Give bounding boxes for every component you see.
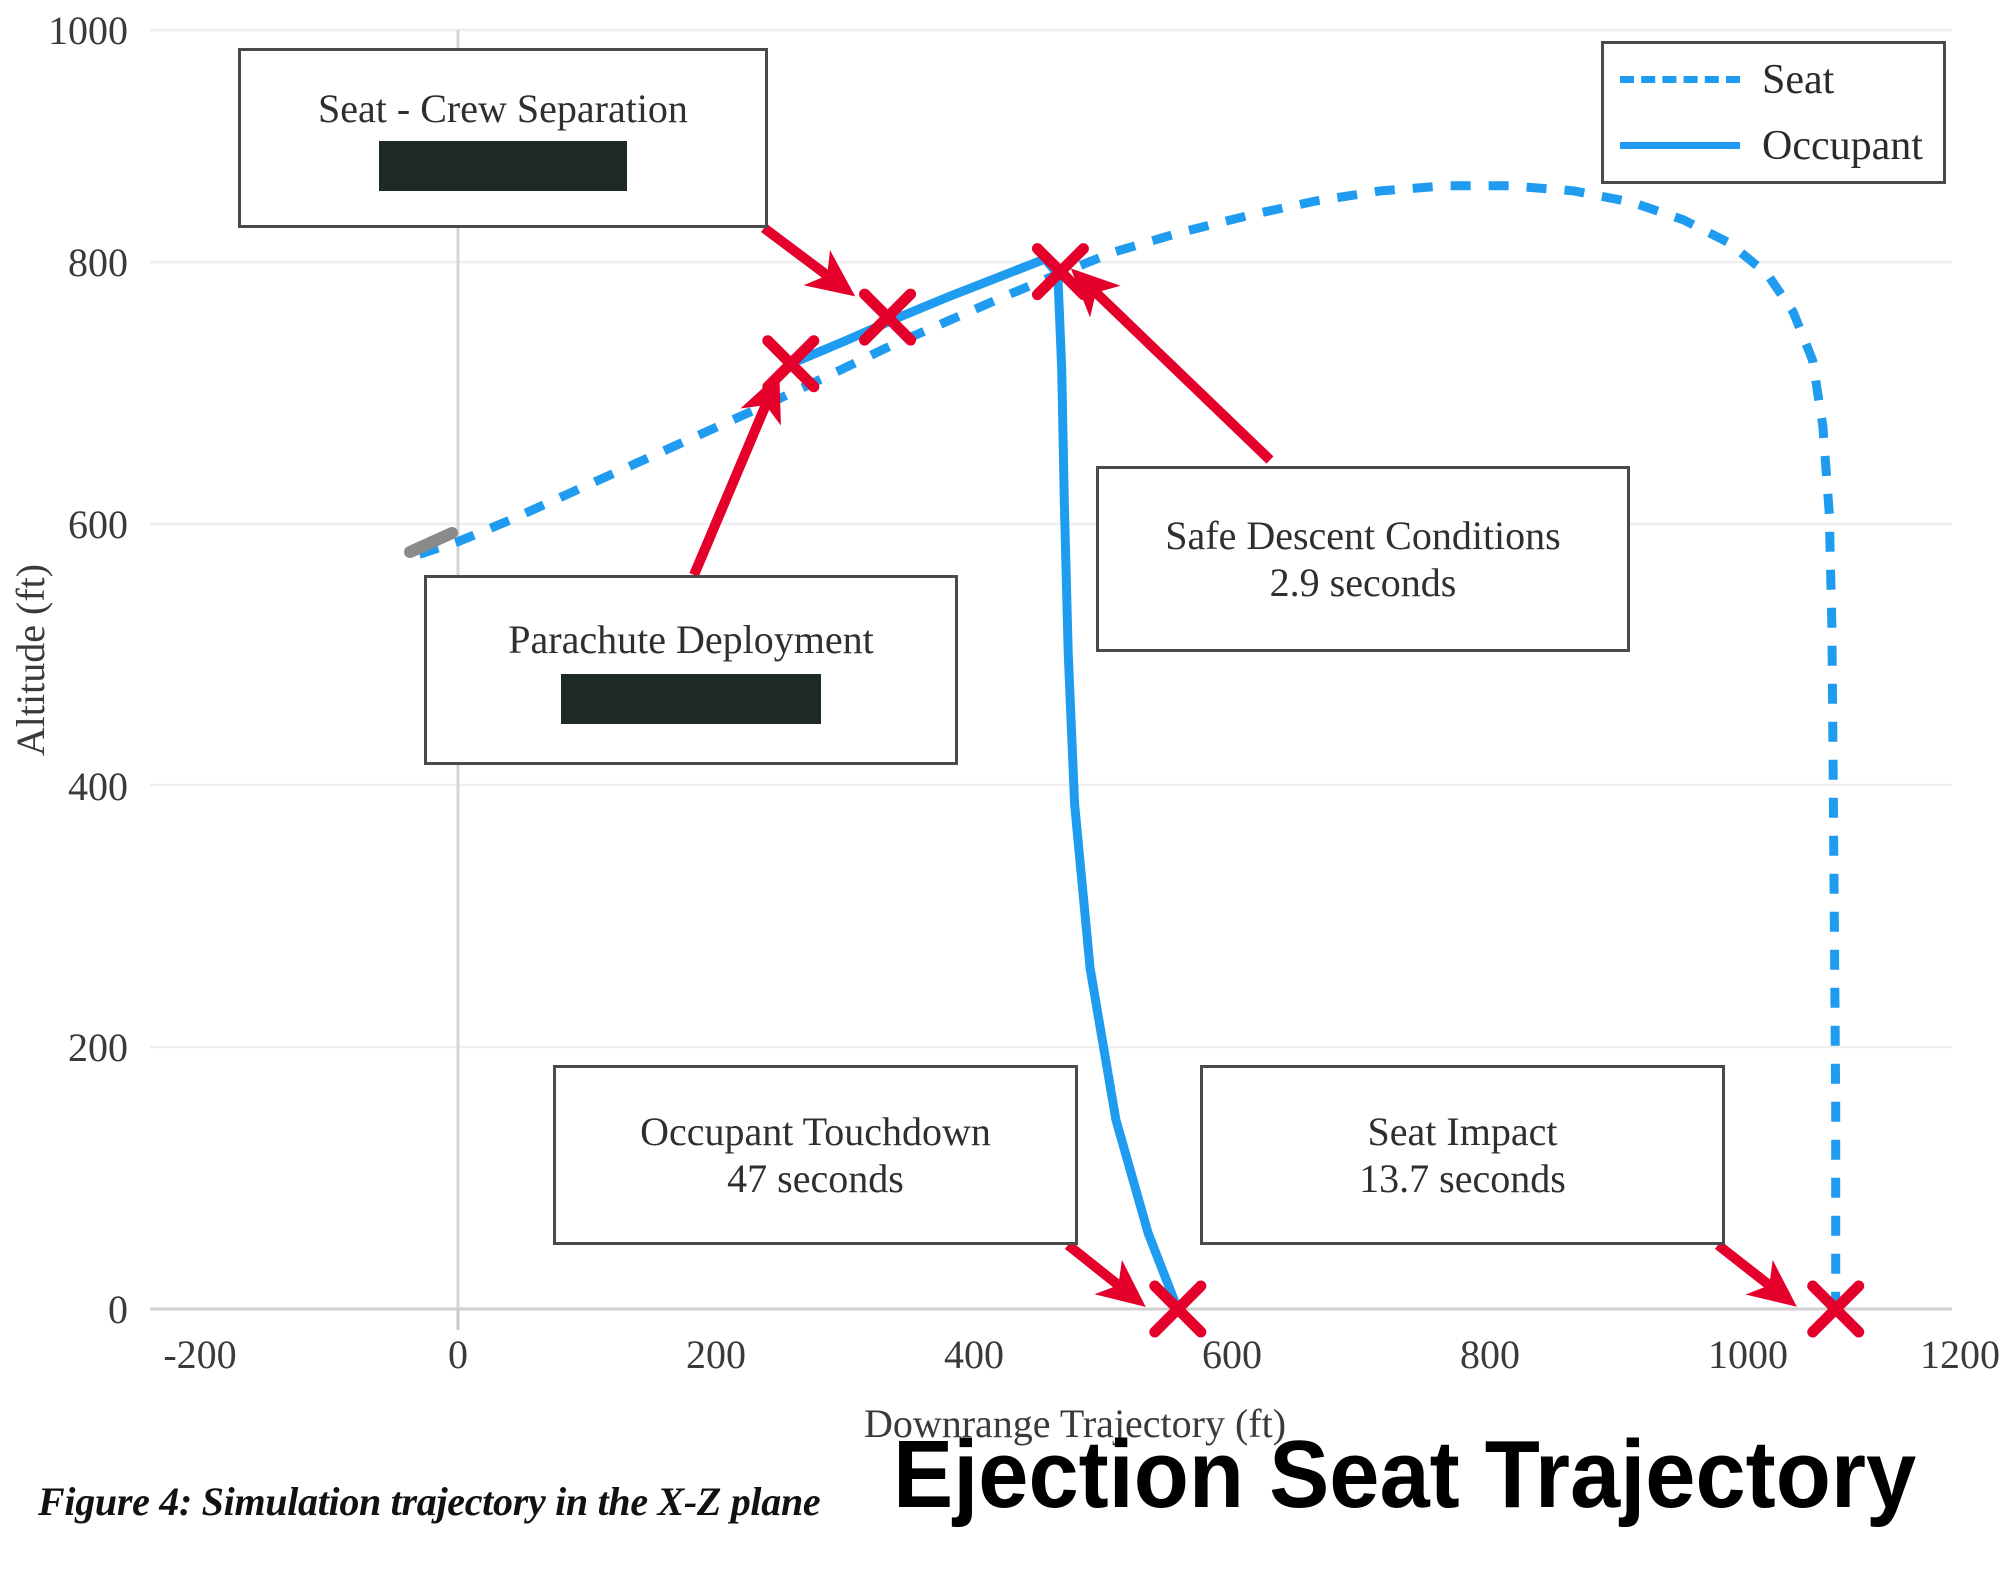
parachute-deployment-marker	[768, 341, 814, 387]
x-tick-400: 400	[944, 1332, 1004, 1377]
overlay-title: Ejection Seat Trajectory	[893, 1420, 1916, 1530]
annotation-title: Occupant Touchdown	[640, 1108, 991, 1155]
y-tick-200: 200	[68, 1025, 128, 1070]
annotation-title: Parachute Deployment	[508, 616, 873, 663]
redaction-bar	[561, 674, 821, 724]
arrow-seat-crew-separation	[764, 228, 836, 282]
y-tick-800: 800	[68, 240, 128, 285]
annotation-value: 47 seconds	[727, 1155, 904, 1202]
x-axis-tick-labels: -200 0 200 400 600 800 1000 1200	[163, 1332, 2000, 1377]
x-tick-800: 800	[1460, 1332, 1520, 1377]
x-tick--200: -200	[163, 1332, 236, 1377]
y-tick-0: 0	[108, 1287, 128, 1332]
annotation-title: Seat - Crew Separation	[318, 85, 688, 132]
legend-label-seat: Seat	[1762, 56, 1834, 104]
x-tick-600: 600	[1202, 1332, 1262, 1377]
x-tick-200: 200	[686, 1332, 746, 1377]
chart-canvas: 1000 800 600 400 200 0 Altitude (ft) -20…	[0, 0, 2000, 1572]
annotation-title: Safe Descent Conditions	[1165, 512, 1561, 559]
annotation-value: 2.9 seconds	[1270, 559, 1457, 606]
annotation-title: Seat Impact	[1368, 1108, 1558, 1155]
legend-label-occupant: Occupant	[1762, 122, 1923, 170]
arrow-parachute-deployment	[694, 395, 770, 575]
annotation-occupant-touchdown[interactable]: Occupant Touchdown 47 seconds	[553, 1065, 1078, 1245]
annotation-seat-crew-separation[interactable]: Seat - Crew Separation	[238, 48, 768, 228]
annotation-safe-descent-conditions[interactable]: Safe Descent Conditions 2.9 seconds	[1096, 466, 1630, 652]
y-axis-title: Altitude (ft)	[8, 564, 53, 756]
y-axis-tick-labels: 1000 800 600 400 200 0	[48, 8, 128, 1332]
y-tick-400: 400	[68, 764, 128, 809]
legend-swatch-dashed-icon	[1620, 76, 1740, 83]
x-tick-1200: 1200	[1920, 1332, 2000, 1377]
annotation-parachute-deployment[interactable]: Parachute Deployment	[424, 575, 958, 765]
arrow-seat-impact	[1718, 1245, 1778, 1292]
annotation-value: 13.7 seconds	[1359, 1155, 1566, 1202]
x-tick-0: 0	[448, 1332, 468, 1377]
legend-swatch-solid-icon	[1620, 142, 1740, 149]
chart-legend[interactable]: Seat Occupant	[1601, 41, 1946, 184]
redaction-bar	[379, 141, 627, 191]
legend-item-seat[interactable]: Seat	[1620, 56, 1921, 104]
y-tick-1000: 1000	[48, 8, 128, 53]
figure-caption: Figure 4: Simulation trajectory in the X…	[38, 1478, 820, 1525]
figure-root: 1000 800 600 400 200 0 Altitude (ft) -20…	[0, 0, 2000, 1572]
annotation-seat-impact[interactable]: Seat Impact 13.7 seconds	[1200, 1065, 1725, 1245]
arrow-occupant-touchdown	[1068, 1245, 1127, 1292]
y-tick-600: 600	[68, 502, 128, 547]
arrow-safe-descent	[1088, 285, 1270, 460]
x-tick-1000: 1000	[1708, 1332, 1788, 1377]
legend-item-occupant[interactable]: Occupant	[1620, 122, 1921, 170]
